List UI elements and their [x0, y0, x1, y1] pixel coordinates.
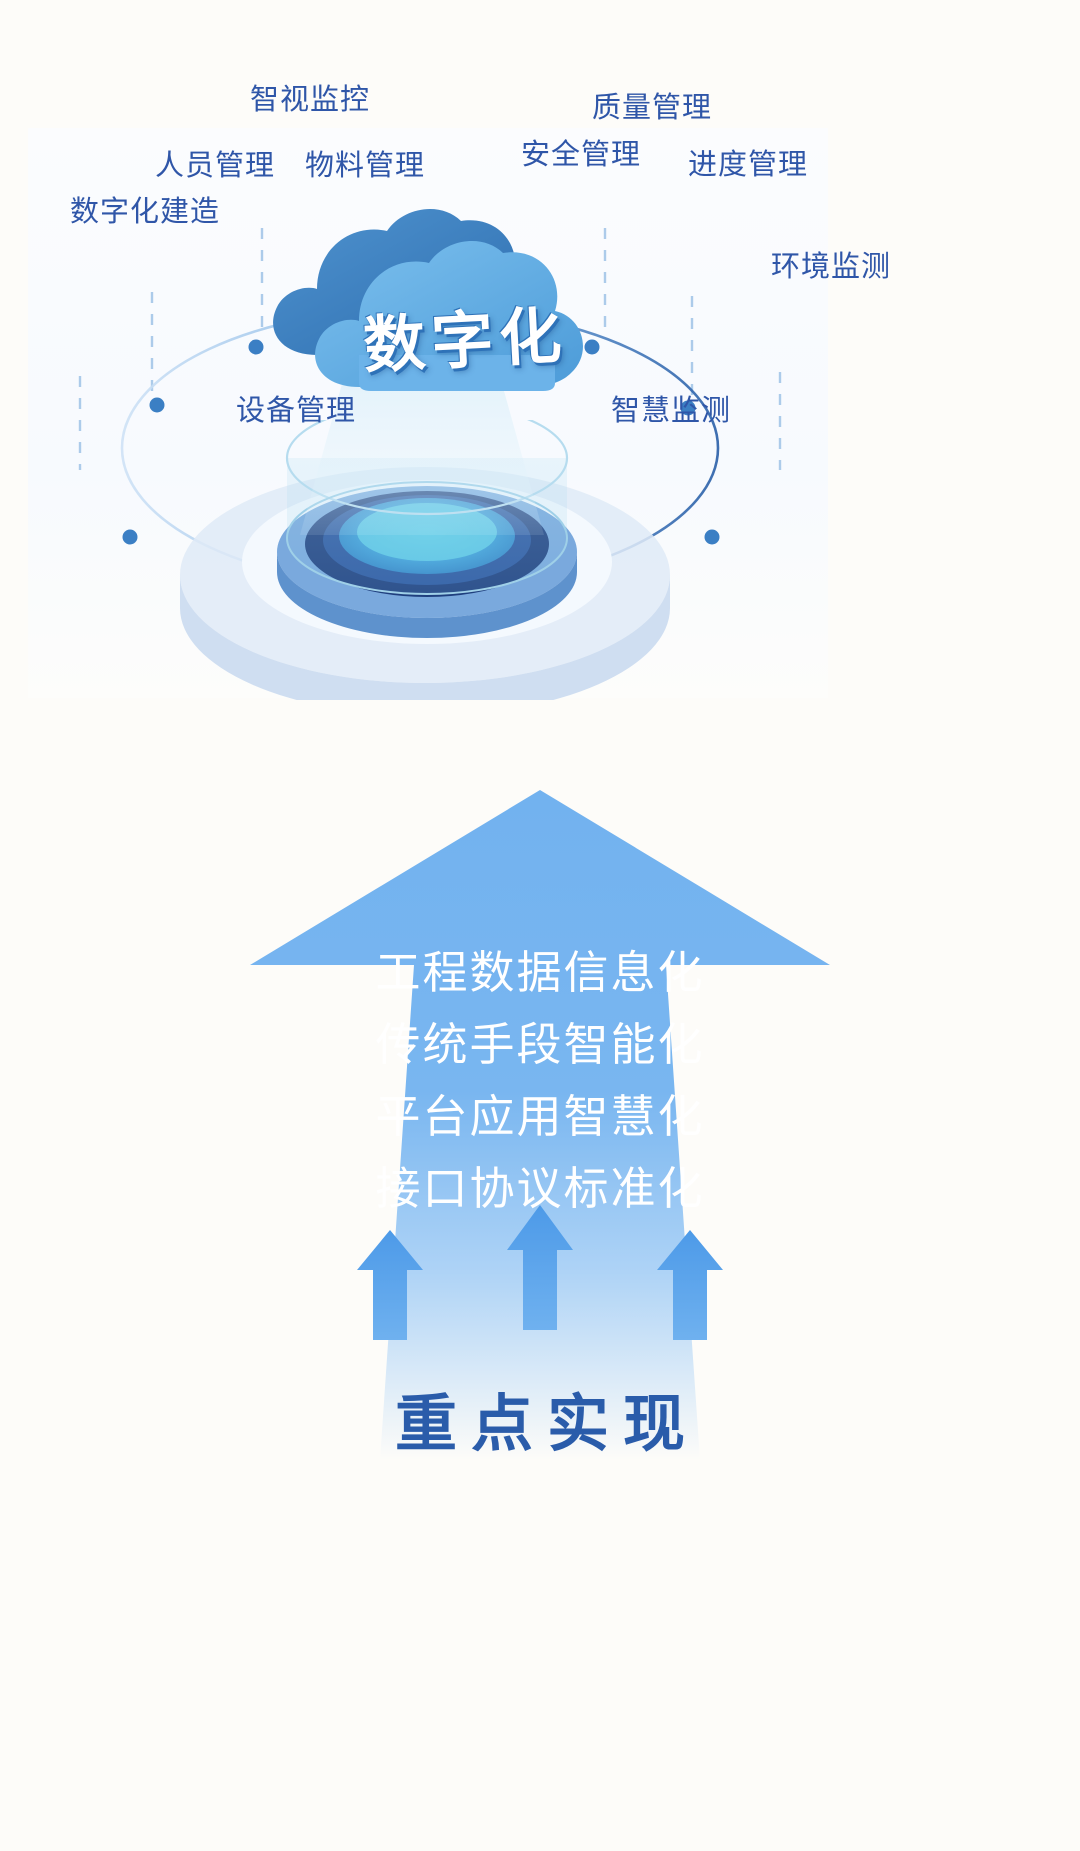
keyword-label-9[interactable]: 智慧监测 — [611, 387, 731, 429]
keyword-label-1[interactable]: 质量管理 — [592, 84, 712, 126]
arrow-line-3: 接口协议标准化 — [0, 1152, 1080, 1217]
key-implementation-arrow: 工程数据信息化 传统手段智能化 平台应用智慧化 接口协议标准化 重点实现 — [0, 760, 1080, 1851]
arrow-line-2: 平台应用智慧化 — [0, 1080, 1080, 1145]
digitalization-diagram: 数字化 智视监控 质量管理 人员管理 物料管理 安全管理 进度管理 数字化建造 … — [0, 0, 1080, 760]
keyword-label-6[interactable]: 数字化建造 — [70, 188, 220, 230]
key-implementation-headline: 重点实现 — [0, 1373, 1080, 1463]
arrow-shape-graphic — [0, 760, 1080, 1851]
keyword-label-8[interactable]: 设备管理 — [236, 387, 356, 429]
keyword-label-7[interactable]: 环境监测 — [771, 243, 891, 285]
keyword-label-3[interactable]: 物料管理 — [305, 142, 425, 184]
arrow-line-1: 传统手段智能化 — [0, 1008, 1080, 1073]
keyword-label-0[interactable]: 智视监控 — [250, 76, 370, 118]
cloud-center-label: 数字化 — [338, 284, 592, 387]
keyword-label-5[interactable]: 进度管理 — [688, 141, 808, 183]
keyword-label-2[interactable]: 人员管理 — [155, 142, 275, 184]
arrow-line-0: 工程数据信息化 — [0, 936, 1080, 1001]
keyword-label-4[interactable]: 安全管理 — [521, 131, 641, 173]
